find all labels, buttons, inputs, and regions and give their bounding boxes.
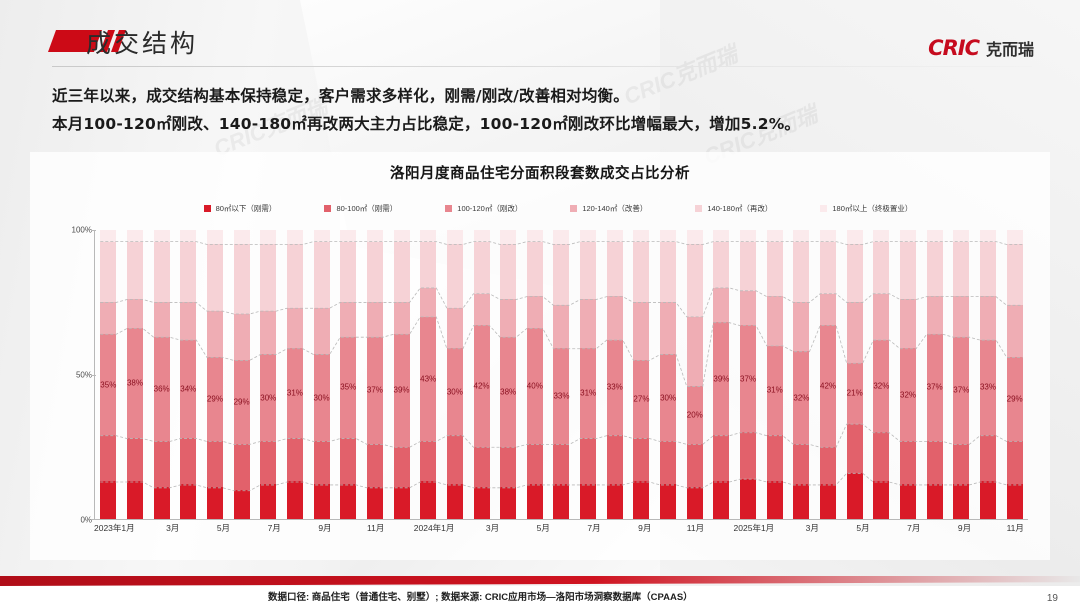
bar-segment[interactable] (474, 242, 490, 294)
bar-segment[interactable] (953, 484, 969, 519)
bar-segment[interactable] (607, 484, 623, 519)
bar-segment[interactable] (100, 242, 116, 303)
bar-segment[interactable]: 33% (980, 340, 996, 435)
bar-segment[interactable]: 42% (820, 325, 836, 446)
bar-segment[interactable] (927, 441, 943, 484)
bar-segment[interactable] (234, 444, 250, 490)
bar-segment[interactable] (207, 311, 223, 357)
bar-slot[interactable]: 43% (415, 230, 442, 519)
bar-segment[interactable] (820, 294, 836, 326)
bar-segment[interactable]: 37% (367, 337, 383, 444)
bar-segment[interactable] (580, 484, 596, 519)
bar-slot[interactable]: 38% (122, 230, 149, 519)
bar-slot[interactable]: 35% (335, 230, 362, 519)
bar-slot[interactable]: 32% (895, 230, 922, 519)
stacked-bar[interactable]: 30% (660, 230, 676, 519)
bar-segment[interactable]: 42% (474, 325, 490, 446)
page-header: 成交结构 CRIC 克而瑞 (0, 0, 1080, 72)
legend-item-4[interactable]: 140-180㎡（再改） (695, 203, 772, 214)
bar-segment[interactable] (207, 441, 223, 487)
bar-segment[interactable] (633, 438, 649, 481)
bar-segment[interactable] (980, 296, 996, 339)
bar-segment[interactable] (713, 288, 729, 323)
bar-segment[interactable]: 20% (687, 386, 703, 444)
bar-segment[interactable] (607, 230, 623, 242)
bar-segment[interactable] (287, 244, 303, 308)
bar-segment[interactable] (927, 296, 943, 334)
bar-slot[interactable]: 40% (522, 230, 549, 519)
bar-segment[interactable] (873, 481, 889, 519)
bar-segment[interactable] (793, 302, 809, 351)
bar-slot[interactable]: 20% (681, 230, 708, 519)
stacked-bar[interactable]: 30% (260, 230, 276, 519)
bar-segment[interactable] (340, 484, 356, 519)
bar-segment[interactable]: 37% (740, 325, 756, 432)
bar-slot[interactable]: 35% (95, 230, 122, 519)
bar-segment[interactable] (500, 487, 516, 519)
bar-slot[interactable]: 32% (788, 230, 815, 519)
bar-segment[interactable]: 36% (154, 337, 170, 441)
bar-segment[interactable] (234, 490, 250, 519)
bar-segment[interactable] (580, 242, 596, 300)
bar-segment[interactable] (447, 230, 463, 244)
bar-slot[interactable]: 31% (575, 230, 602, 519)
legend-item-1[interactable]: 80-100㎡（刚需） (324, 203, 397, 214)
bar-segment[interactable] (660, 484, 676, 519)
bar-segment[interactable]: 34% (180, 340, 196, 438)
bar-segment[interactable] (447, 244, 463, 308)
bar-segment[interactable] (447, 484, 463, 519)
bar-segment[interactable] (180, 302, 196, 340)
bar-segment[interactable] (340, 302, 356, 337)
bar-segment[interactable]: 31% (580, 348, 596, 438)
bar-segment[interactable] (367, 487, 383, 519)
stacked-bar[interactable]: 39% (713, 230, 729, 519)
bar-slot[interactable]: 37% (362, 230, 389, 519)
bar-slot[interactable]: 42% (815, 230, 842, 519)
bar-segment[interactable] (740, 432, 756, 478)
bar-segment[interactable] (314, 484, 330, 519)
bar-segment[interactable] (607, 242, 623, 297)
stacked-bar[interactable]: 43% (420, 230, 436, 519)
bar-segment[interactable]: 30% (260, 354, 276, 441)
bar-segment[interactable] (740, 479, 756, 519)
bar-segment[interactable] (713, 242, 729, 288)
bar-segment[interactable] (314, 230, 330, 242)
bar-segment[interactable] (687, 317, 703, 386)
bar-segment[interactable] (633, 230, 649, 242)
bar-segment[interactable] (1007, 244, 1023, 305)
bar-segment[interactable] (580, 230, 596, 242)
stacked-bar[interactable]: 37% (740, 230, 756, 519)
bar-segment[interactable]: 31% (767, 346, 783, 436)
bar-segment[interactable]: 30% (447, 348, 463, 435)
bar-segment[interactable] (154, 230, 170, 242)
bar-segment[interactable] (660, 302, 676, 354)
bar-segment[interactable]: 33% (553, 348, 569, 443)
bar-value-label: 31% (580, 389, 596, 398)
stacked-bar[interactable]: 29% (234, 230, 250, 519)
stacked-bar[interactable]: 33% (607, 230, 623, 519)
bar-segment[interactable] (633, 481, 649, 519)
bar-slot[interactable]: 38% (495, 230, 522, 519)
stacked-bar[interactable]: 39% (394, 230, 410, 519)
bar-slot[interactable]: 36% (148, 230, 175, 519)
bar-segment[interactable] (154, 302, 170, 337)
bar-segment[interactable]: 38% (127, 328, 143, 438)
bar-segment[interactable] (394, 302, 410, 334)
bar-segment[interactable] (180, 438, 196, 484)
bar-segment[interactable]: 33% (607, 340, 623, 435)
bar-segment[interactable] (980, 435, 996, 481)
bar-slot[interactable]: 42% (468, 230, 495, 519)
bar-segment[interactable]: 32% (873, 340, 889, 432)
bar-segment[interactable] (420, 441, 436, 481)
bar-segment[interactable] (900, 441, 916, 484)
bar-slot[interactable]: 30% (255, 230, 282, 519)
stacked-bar[interactable]: 40% (527, 230, 543, 519)
stacked-bar[interactable]: 42% (474, 230, 490, 519)
bar-segment[interactable] (100, 481, 116, 519)
stacked-bar[interactable]: 31% (580, 230, 596, 519)
bar-segment[interactable] (234, 244, 250, 313)
bar-segment[interactable] (900, 230, 916, 242)
bar-slot[interactable]: 31% (282, 230, 309, 519)
bar-segment[interactable] (1007, 230, 1023, 244)
stacked-bar[interactable]: 32% (793, 230, 809, 519)
bar-slot[interactable]: 39% (708, 230, 735, 519)
bar-segment[interactable] (260, 230, 276, 244)
bar-value-label: 38% (500, 387, 516, 396)
bar-segment[interactable]: 40% (527, 328, 543, 444)
bar-slot[interactable]: 30% (655, 230, 682, 519)
bar-segment[interactable] (740, 242, 756, 291)
bar-slot[interactable]: 39% (388, 230, 415, 519)
bar-segment[interactable] (207, 244, 223, 310)
bar-segment[interactable] (553, 244, 569, 305)
bar-segment[interactable] (340, 242, 356, 303)
bar-segment[interactable] (873, 294, 889, 340)
bar-segment[interactable] (873, 230, 889, 242)
bar-segment[interactable]: 30% (660, 354, 676, 441)
bar-segment[interactable] (820, 447, 836, 485)
bar-segment[interactable] (687, 230, 703, 244)
bar-segment[interactable] (767, 435, 783, 481)
bar-segment[interactable] (953, 444, 969, 484)
bar-segment[interactable]: 32% (900, 348, 916, 440)
bar-segment[interactable] (927, 484, 943, 519)
stacked-bar[interactable]: 30% (447, 230, 463, 519)
bar-segment[interactable] (873, 432, 889, 481)
bar-segment[interactable]: 30% (314, 354, 330, 441)
bar-segment[interactable] (394, 230, 410, 242)
bar-segment[interactable] (394, 242, 410, 303)
bar-segment[interactable] (633, 242, 649, 303)
bar-segment[interactable] (127, 230, 143, 242)
bar-segment[interactable] (260, 244, 276, 310)
bar-segment[interactable] (953, 242, 969, 297)
bar-segment[interactable] (394, 447, 410, 487)
bar-segment[interactable] (900, 484, 916, 519)
bar-value-label: 33% (607, 383, 623, 392)
stacked-bar[interactable]: 30% (314, 230, 330, 519)
bar-segment[interactable] (474, 294, 490, 326)
bar-segment[interactable] (260, 484, 276, 519)
bar-segment[interactable]: 35% (340, 337, 356, 438)
stacked-bar[interactable]: 34% (180, 230, 196, 519)
bar-segment[interactable] (127, 242, 143, 300)
x-tick-label: 11月 (363, 522, 388, 534)
bar-slot[interactable]: 29% (228, 230, 255, 519)
bar-segment[interactable] (767, 481, 783, 519)
bar-segment[interactable]: 29% (1007, 357, 1023, 441)
stacked-bar[interactable]: 33% (980, 230, 996, 519)
bar-segment[interactable] (527, 230, 543, 242)
stacked-bar[interactable]: 32% (873, 230, 889, 519)
stacked-bar[interactable]: 21% (847, 230, 863, 519)
bar-segment[interactable] (740, 291, 756, 326)
bar-segment[interactable] (420, 230, 436, 242)
bar-segment[interactable] (553, 305, 569, 348)
stacked-bar[interactable]: 36% (154, 230, 170, 519)
bar-segment[interactable]: 39% (713, 322, 729, 435)
bar-segment[interactable]: 27% (633, 360, 649, 438)
x-tick-label: 11月 (683, 522, 708, 534)
stacked-bar[interactable]: 29% (207, 230, 223, 519)
bar-segment[interactable] (234, 230, 250, 244)
bar-segment[interactable] (820, 230, 836, 242)
stacked-bar[interactable]: 35% (100, 230, 116, 519)
stacked-bar[interactable]: 37% (367, 230, 383, 519)
bar-segment[interactable] (474, 447, 490, 487)
legend-item-2[interactable]: 100-120㎡（刚改） (445, 203, 522, 214)
bar-segment[interactable] (847, 424, 863, 473)
bar-segment[interactable] (420, 288, 436, 317)
stacked-bar[interactable]: 38% (127, 230, 143, 519)
bar-segment[interactable] (154, 242, 170, 303)
bar-slot[interactable]: 30% (442, 230, 469, 519)
bar-slot[interactable]: 29% (202, 230, 229, 519)
bar-segment[interactable] (207, 230, 223, 244)
stacked-bar[interactable]: 37% (927, 230, 943, 519)
bar-segment[interactable] (553, 484, 569, 519)
legend-item-0[interactable]: 80㎡以下（刚需） (204, 203, 277, 214)
bar-slot[interactable]: 31% (761, 230, 788, 519)
bar-segment[interactable] (713, 481, 729, 519)
bar-segment[interactable] (127, 481, 143, 519)
bar-segment[interactable] (180, 484, 196, 519)
bar-segment[interactable] (687, 444, 703, 487)
bar-segment[interactable] (500, 447, 516, 487)
bar-segment[interactable] (394, 487, 410, 519)
bullet-line-2: 本月100-120㎡刚改、140-180㎡再改两大主力占比稳定，100-120㎡… (52, 110, 1042, 138)
bar-segment[interactable] (447, 435, 463, 484)
bar-segment[interactable] (207, 487, 223, 519)
bar-segment[interactable] (607, 435, 623, 484)
bar-value-label: 43% (420, 374, 436, 383)
bar-segment[interactable] (633, 302, 649, 360)
bar-segment[interactable] (793, 230, 809, 242)
bar-segment[interactable] (127, 299, 143, 328)
bar-segment[interactable] (260, 311, 276, 354)
bar-segment[interactable] (687, 244, 703, 316)
bar-segment[interactable] (1007, 441, 1023, 484)
bar-segment[interactable] (953, 230, 969, 242)
bar-segment[interactable] (553, 230, 569, 244)
x-tick-label (556, 522, 581, 534)
bar-segment[interactable]: 32% (793, 351, 809, 443)
bar-segment[interactable] (660, 441, 676, 484)
bar-segment[interactable] (100, 302, 116, 334)
x-tick-label: 9月 (952, 522, 977, 534)
bar-segment[interactable] (953, 296, 969, 336)
bar-segment[interactable] (154, 487, 170, 519)
bar-segment[interactable] (474, 487, 490, 519)
bar-segment[interactable] (980, 230, 996, 242)
stacked-bar[interactable]: 33% (553, 230, 569, 519)
bar-segment[interactable]: 37% (953, 337, 969, 444)
bar-slot[interactable]: 29% (1001, 230, 1028, 519)
stacked-bar[interactable]: 29% (1007, 230, 1023, 519)
bar-segment[interactable] (767, 296, 783, 345)
bar-segment[interactable] (847, 244, 863, 302)
bar-segment[interactable] (100, 230, 116, 242)
bar-segment[interactable] (900, 242, 916, 300)
stacked-bar[interactable]: 38% (500, 230, 516, 519)
bar-segment[interactable] (260, 441, 276, 484)
stacked-bar[interactable]: 31% (767, 230, 783, 519)
bar-slot[interactable]: 27% (628, 230, 655, 519)
bar-slot[interactable]: 37% (948, 230, 975, 519)
bar-segment[interactable] (287, 438, 303, 481)
bar-segment[interactable]: 29% (234, 360, 250, 444)
bar-segment[interactable] (287, 308, 303, 348)
bar-segment[interactable] (847, 473, 863, 519)
bar-slot[interactable]: 37% (735, 230, 762, 519)
bar-slot[interactable]: 33% (975, 230, 1002, 519)
bar-segment[interactable] (820, 484, 836, 519)
bar-segment[interactable] (980, 481, 996, 519)
stacked-bar[interactable]: 27% (633, 230, 649, 519)
bar-segment[interactable]: 35% (100, 334, 116, 435)
bar-segment[interactable] (900, 299, 916, 348)
bar-segment[interactable] (873, 242, 889, 294)
bar-segment[interactable]: 29% (207, 357, 223, 441)
bar-segment[interactable] (447, 308, 463, 348)
bar-segment[interactable] (580, 299, 596, 348)
bar-segment[interactable] (180, 242, 196, 303)
bar-segment[interactable] (314, 242, 330, 308)
stacked-bar[interactable]: 35% (340, 230, 356, 519)
bar-segment[interactable] (367, 302, 383, 337)
bar-segment[interactable] (100, 435, 116, 481)
bar-segment[interactable] (154, 441, 170, 487)
bar-segment[interactable] (820, 242, 836, 294)
bar-segment[interactable] (287, 230, 303, 244)
bar-segment[interactable]: 37% (927, 334, 943, 441)
bar-slot[interactable]: 21% (841, 230, 868, 519)
bar-segment[interactable] (660, 230, 676, 242)
bar-segment[interactable] (527, 296, 543, 328)
bar-segment[interactable] (180, 230, 196, 242)
bar-slot[interactable]: 30% (308, 230, 335, 519)
bar-value-label: 42% (473, 382, 489, 391)
bar-segment[interactable] (420, 481, 436, 519)
bar-segment[interactable] (367, 444, 383, 487)
bar-segment[interactable] (1007, 484, 1023, 519)
bar-segment[interactable] (474, 230, 490, 242)
bar-segment[interactable] (500, 299, 516, 337)
bar-segment[interactable]: 31% (287, 348, 303, 438)
legend-item-5[interactable]: 180㎡以上（终极置业） (820, 203, 912, 214)
bar-segment[interactable] (713, 230, 729, 242)
bar-segment[interactable]: 38% (500, 337, 516, 447)
bar-segment[interactable]: 21% (847, 363, 863, 424)
bar-segment[interactable]: 39% (394, 334, 410, 447)
legend-item-3[interactable]: 120-140㎡（改善） (570, 203, 647, 214)
bar-segment[interactable] (367, 242, 383, 303)
bar-segment[interactable] (314, 441, 330, 484)
bar-segment[interactable] (927, 230, 943, 242)
bar-segment[interactable] (660, 242, 676, 303)
bar-slot[interactable]: 33% (548, 230, 575, 519)
bar-segment[interactable] (500, 230, 516, 244)
bar-value-label: 29% (1007, 395, 1023, 404)
bar-slot[interactable]: 32% (868, 230, 895, 519)
bar-segment[interactable] (607, 296, 623, 339)
bar-segment[interactable] (847, 230, 863, 244)
bar-segment[interactable] (847, 302, 863, 363)
stacked-bar[interactable]: 31% (287, 230, 303, 519)
bar-segment[interactable] (793, 444, 809, 484)
bar-segment[interactable] (314, 308, 330, 354)
bar-segment[interactable] (767, 230, 783, 242)
bar-segment[interactable] (740, 230, 756, 242)
stacked-bar[interactable]: 20% (687, 230, 703, 519)
bar-segment[interactable] (420, 242, 436, 288)
stacked-bar[interactable]: 37% (953, 230, 969, 519)
bar-segment[interactable] (980, 242, 996, 297)
bar-segment[interactable] (340, 438, 356, 484)
bar-segment[interactable] (500, 244, 516, 299)
bar-slot[interactable]: 37% (921, 230, 948, 519)
bar-segment[interactable] (580, 438, 596, 484)
bar-segment[interactable] (927, 242, 943, 297)
bar-segment[interactable] (1007, 305, 1023, 357)
x-tick-label: 11月 (1003, 522, 1028, 534)
stacked-bar[interactable]: 32% (900, 230, 916, 519)
bar-segment[interactable] (713, 435, 729, 481)
bar-slot[interactable]: 34% (175, 230, 202, 519)
bar-segment[interactable] (793, 242, 809, 303)
bar-segment[interactable] (367, 230, 383, 242)
bar-segment[interactable] (234, 314, 250, 360)
bar-segment[interactable] (127, 438, 143, 481)
bar-slot[interactable]: 33% (601, 230, 628, 519)
bar-value-label: 30% (660, 393, 676, 402)
bar-segment[interactable] (527, 242, 543, 297)
bar-segment[interactable] (527, 444, 543, 484)
stacked-bar[interactable]: 42% (820, 230, 836, 519)
bar-segment[interactable] (767, 242, 783, 297)
bar-segment[interactable] (340, 230, 356, 242)
bar-segment[interactable] (793, 484, 809, 519)
bar-segment[interactable] (527, 484, 543, 519)
bar-segment[interactable] (687, 487, 703, 519)
bar-segment[interactable] (287, 481, 303, 519)
bar-segment[interactable] (553, 444, 569, 484)
bar-segment[interactable]: 43% (420, 317, 436, 441)
